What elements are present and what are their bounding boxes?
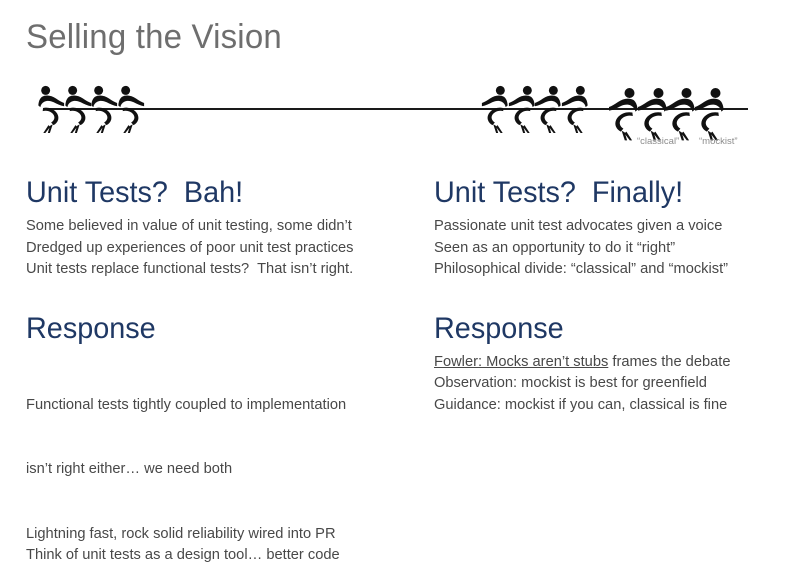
group-tag-row: “classical” “mockist”	[0, 136, 800, 154]
section-unit-tests-finally: Unit Tests? Finally! Passionate unit tes…	[434, 176, 800, 280]
body-line-part: frames the debate	[608, 353, 730, 370]
body-line: Observation: mockist is best for greenfi…	[434, 372, 800, 394]
content-column-right: Unit Tests? Finally! Passionate unit tes…	[434, 176, 800, 415]
body-line: Passionate unit test advocates given a v…	[434, 215, 800, 237]
tug-of-war-figure	[481, 85, 508, 134]
body-line: Guidance: mockist if you can, classical …	[434, 394, 800, 416]
body-response-left: Functional tests tightly coupled to impl…	[26, 351, 412, 566]
body-line: Think of unit tests as a design tool… be…	[26, 544, 398, 566]
tug-of-war-figure	[608, 87, 638, 141]
content-column-left: Unit Tests? Bah! Some believed in value …	[26, 176, 412, 566]
tug-of-war-figure	[508, 85, 535, 134]
group-tag-mockist: “mockist”	[699, 136, 738, 147]
fowler-mocks-arent-stubs-link[interactable]: Fowler: Mocks aren’t stubs	[434, 353, 608, 370]
heading-response-left: Response	[26, 312, 397, 346]
tug-of-war-figure	[118, 85, 145, 134]
heading-unit-tests-bah: Unit Tests? Bah!	[26, 176, 397, 210]
body-unit-tests-finally: Passionate unit test advocates given a v…	[434, 215, 800, 280]
body-line: Some believed in value of unit testing, …	[26, 215, 398, 237]
body-line-with-link: Fowler: Mocks aren’t stubs frames the de…	[434, 351, 800, 373]
tug-of-war-figure	[534, 85, 561, 134]
body-line-part: isn’t right either… we need both	[26, 458, 398, 480]
tug-of-war-figure	[694, 87, 724, 141]
tug-of-war-figure	[561, 85, 588, 134]
heading-response-right: Response	[434, 312, 800, 346]
body-line: Seen as an opportunity to do it “right”	[434, 237, 800, 259]
body-line: Dredged up experiences of poor unit test…	[26, 237, 398, 259]
body-response-right: Fowler: Mocks aren’t stubs frames the de…	[434, 351, 800, 416]
body-line: Philosophical divide: “classical” and “m…	[434, 258, 800, 280]
section-response-left: Response Functional tests tightly couple…	[26, 312, 412, 566]
body-unit-tests-bah: Some believed in value of unit testing, …	[26, 215, 412, 280]
section-response-right: Response Fowler: Mocks aren’t stubs fram…	[434, 312, 800, 416]
heading-unit-tests-finally: Unit Tests? Finally!	[434, 176, 800, 210]
tug-of-war-figure	[65, 85, 92, 134]
body-line: Unit tests replace functional tests? Tha…	[26, 258, 398, 280]
body-line: Lightning fast, rock solid reliability w…	[26, 523, 398, 545]
tug-of-war-figure	[38, 85, 65, 134]
tug-of-war-illustration: “classical” “mockist”	[0, 84, 800, 156]
group-tag-classical: “classical”	[637, 136, 679, 147]
page-title: Selling the Vision	[26, 18, 282, 57]
section-unit-tests-bah: Unit Tests? Bah! Some believed in value …	[26, 176, 412, 280]
body-line: Functional tests tightly coupled to impl…	[26, 351, 398, 523]
tug-of-war-figure	[637, 87, 667, 141]
body-line-part: Functional tests tightly coupled to impl…	[26, 394, 398, 416]
tug-of-war-figure	[91, 85, 118, 134]
tug-of-war-figure	[665, 87, 695, 141]
